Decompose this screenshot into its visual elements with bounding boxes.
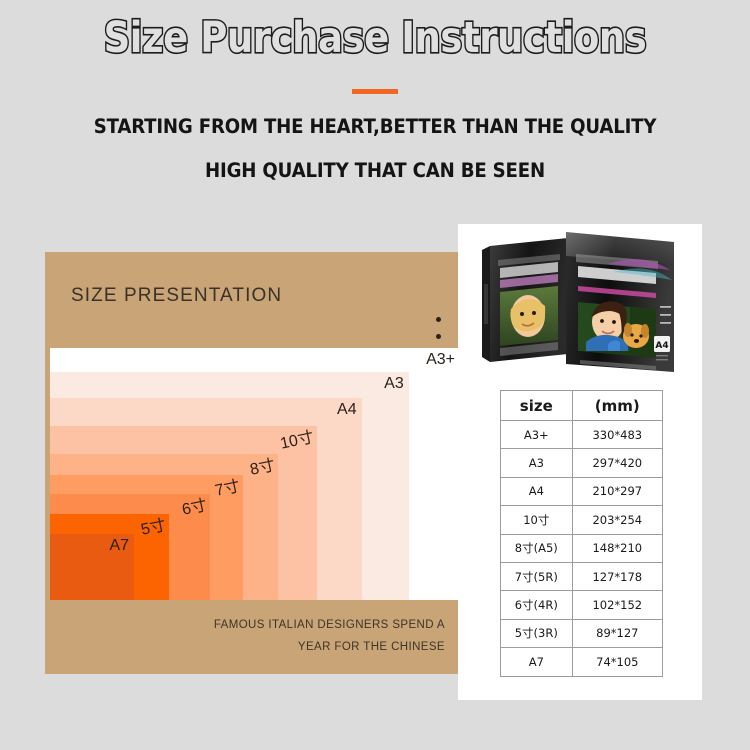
table-cell-mm: 148*210 bbox=[572, 534, 662, 562]
subtitle-line-2: HIGH QUALITY THAT CAN BE SEEN bbox=[26, 159, 724, 182]
size-band-label: 6寸 bbox=[181, 497, 209, 520]
table-cell-mm: 89*127 bbox=[572, 619, 662, 647]
table-cell-size: A7 bbox=[501, 648, 573, 676]
photo-paper-boxes-image: A4 bbox=[458, 224, 702, 384]
page-title: Size Purchase Instructions bbox=[53, 17, 698, 60]
product-info-card: A4 size (mm) A3+330*483A3297*420A4210*29… bbox=[458, 224, 702, 700]
table-row: 7寸(5R)127*178 bbox=[501, 562, 663, 590]
header: Size Purchase Instructions STARTING FROM… bbox=[0, 0, 750, 182]
table-row: A774*105 bbox=[501, 648, 663, 676]
size-table-body: A3+330*483A3297*420A4210*29710寸203*2548寸… bbox=[501, 421, 663, 677]
table-cell-mm: 203*254 bbox=[572, 506, 662, 534]
size-band-label: 7寸 bbox=[213, 478, 241, 501]
size-presentation-title: SIZE PRESENTATION bbox=[71, 285, 282, 307]
size-band: A7 bbox=[50, 534, 134, 600]
table-cell-size: A3+ bbox=[501, 421, 573, 449]
table-cell-size: 6寸(4R) bbox=[501, 591, 573, 619]
page-root: Size Purchase Instructions STARTING FROM… bbox=[0, 0, 750, 750]
size-band-label: A4 bbox=[337, 401, 357, 419]
decorative-dot-icon bbox=[436, 317, 441, 322]
product-box-rear bbox=[482, 238, 568, 362]
table-header-row: size (mm) bbox=[501, 391, 663, 421]
table-cell-mm: 210*297 bbox=[572, 477, 662, 505]
table-cell-mm: 102*152 bbox=[572, 591, 662, 619]
size-comparison-diagram: A3+A3A410寸8寸7寸6寸5寸A7 bbox=[50, 348, 460, 600]
table-cell-mm: 74*105 bbox=[572, 648, 662, 676]
size-band-label: A3+ bbox=[426, 351, 455, 369]
table-cell-mm: 330*483 bbox=[572, 421, 662, 449]
size-band-label: 8寸 bbox=[248, 457, 276, 480]
table-header-mm: (mm) bbox=[572, 391, 662, 421]
table-row: A3297*420 bbox=[501, 449, 663, 477]
panel-footnote-line-2: YEAR FOR THE CHINESE bbox=[214, 637, 445, 658]
size-table: size (mm) A3+330*483A3297*420A4210*29710… bbox=[500, 390, 663, 677]
table-cell-size: 8寸(A5) bbox=[501, 534, 573, 562]
table-cell-mm: 297*420 bbox=[572, 449, 662, 477]
panel-footnote: FAMOUS ITALIAN DESIGNERS SPEND A YEAR FO… bbox=[214, 615, 445, 658]
table-row: A4210*297 bbox=[501, 477, 663, 505]
size-band-label: A7 bbox=[109, 537, 129, 555]
table-header-size: size bbox=[501, 391, 573, 421]
table-row: 5寸(3R)89*127 bbox=[501, 619, 663, 647]
size-band-label: 10寸 bbox=[278, 429, 315, 454]
table-row: A3+330*483 bbox=[501, 421, 663, 449]
table-row: 8寸(A5)148*210 bbox=[501, 534, 663, 562]
svg-text:A4: A4 bbox=[655, 341, 668, 351]
table-cell-mm: 127*178 bbox=[572, 562, 662, 590]
subtitle-line-1: STARTING FROM THE HEART,BETTER THAN THE … bbox=[26, 115, 724, 138]
panel-footnote-line-1: FAMOUS ITALIAN DESIGNERS SPEND A bbox=[214, 615, 445, 636]
title-divider bbox=[352, 89, 398, 94]
size-band-label: 5寸 bbox=[140, 517, 168, 540]
product-box-front: A4 bbox=[566, 232, 674, 372]
table-cell-size: 5寸(3R) bbox=[501, 619, 573, 647]
table-cell-size: A3 bbox=[501, 449, 573, 477]
table-cell-size: 7寸(5R) bbox=[501, 562, 573, 590]
table-cell-size: A4 bbox=[501, 477, 573, 505]
size-presentation-panel: SIZE PRESENTATION A3+A3A410寸8寸7寸6寸5寸A7 F… bbox=[45, 252, 465, 674]
table-cell-size: 10寸 bbox=[501, 506, 573, 534]
table-row: 6寸(4R)102*152 bbox=[501, 591, 663, 619]
table-row: 10寸203*254 bbox=[501, 506, 663, 534]
decorative-dot-icon bbox=[436, 334, 441, 339]
size-band-label: A3 bbox=[384, 375, 404, 393]
